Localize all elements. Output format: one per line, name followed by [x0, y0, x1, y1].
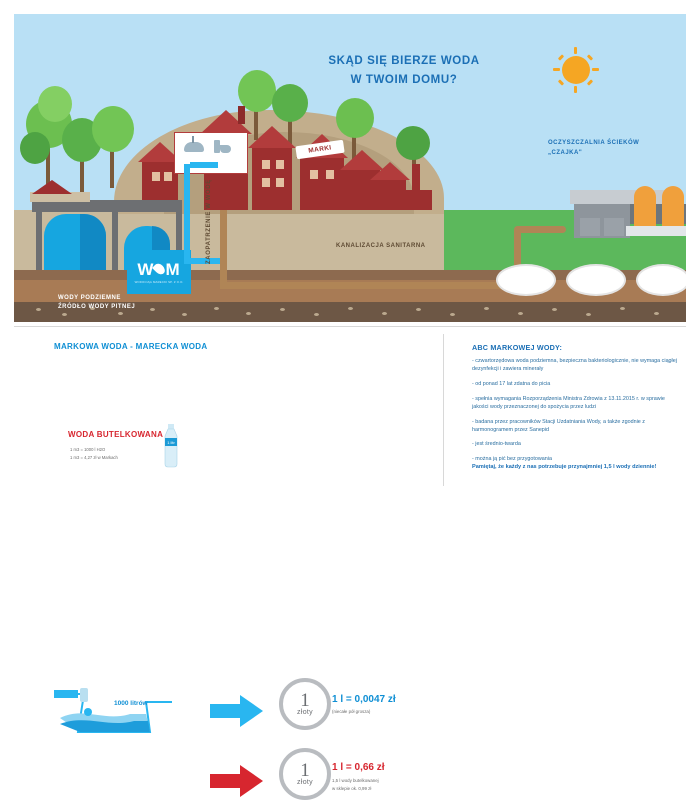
abc-item: - czwartorzędowa woda podziemna, bezpiec…	[472, 357, 678, 373]
bottled-fine-1: 1 m3 = 1000 l H2O	[70, 447, 105, 454]
abc-footer: Pamiętaj, że każdy z nas potrzebuje przy…	[472, 464, 682, 470]
marki-label: MARKI	[308, 144, 332, 154]
abc-title: ABC MARKOWEJ WODY:	[472, 343, 562, 352]
supply-pipe-riser	[190, 162, 218, 168]
settling-basin-2	[566, 264, 626, 296]
plant-label-1: OCZYSZCZALNIA ŚCIEKÓW	[548, 140, 639, 146]
groundwater-label-1: WODY PODZIEMNE	[58, 295, 121, 301]
wim-letter-m: M	[165, 261, 180, 278]
bottled-price: 1 l = 0,66 zł	[332, 762, 385, 773]
coin-bottled-number: 1	[300, 762, 310, 779]
tap-water-title: MARKOWA WODA - MARECKA WODA	[54, 342, 207, 351]
supply-pipe-vertical	[184, 164, 190, 264]
infographic-page: SKĄD SIĘ BIERZE WODA W TWOIM DOMU?	[0, 0, 700, 504]
sanitary-sewer-label: KANALIZACJA SANITARNA	[336, 243, 426, 249]
toilet-icon	[214, 140, 230, 154]
bottled-water-title: WODA BUTELKOWANA	[68, 430, 163, 439]
page-title: SKĄD SIĘ BIERZE WODA W TWOIM DOMU?	[294, 52, 514, 90]
plant-label-2: „CZAJKA"	[548, 150, 582, 156]
sun-icon	[562, 56, 590, 84]
settling-basin-1	[496, 264, 556, 296]
title-line-2: W TWOIM DOMU?	[294, 71, 514, 90]
wim-logo: W M WODOCIĄG MARECKI SP. Z O.O.	[127, 250, 191, 294]
wim-mark: W M	[137, 261, 180, 278]
wim-subtitle: WODOCIĄG MARECKI SP. Z O.O.	[135, 280, 184, 284]
bottled-fine-2: 1 m3 = 4,27 zł w Markach	[70, 455, 118, 462]
coin-tap-number: 1	[300, 692, 310, 709]
illustration-scene: SKĄD SIĘ BIERZE WODA W TWOIM DOMU?	[14, 14, 686, 322]
settling-basin-3	[636, 264, 686, 296]
sewer-pipe-drop	[220, 210, 227, 286]
bottled-price-note-1: 1,5 l wody butelkowanej	[332, 778, 379, 785]
abc-item: - badana przez pracowników Stacji Uzdatn…	[472, 418, 678, 434]
horizontal-divider	[14, 326, 686, 327]
tap-price: 1 l = 0,0047 zł	[332, 694, 396, 705]
abc-list: - czwartorzędowa woda podziemna, bezpiec…	[472, 357, 678, 470]
supply-pipe-horizontal	[184, 258, 224, 264]
bottled-price-note-2: w sklepie ok. 0,99 zł	[332, 786, 371, 793]
coin-tap: 1 złoty	[279, 678, 331, 730]
sewer-pipe-to-plant	[514, 226, 566, 233]
title-line-1: SKĄD SIĘ BIERZE WODA	[294, 52, 514, 71]
abc-item: - jest średnio-twarda	[472, 440, 678, 448]
abc-item: - od ponad 17 lat zdatna do picia	[472, 380, 678, 388]
abc-item: - spełnia wymagania Rozporządzenia Minis…	[472, 395, 678, 411]
groundwater-label-2: ŹRÓDŁO WODY PITNEJ	[58, 304, 135, 310]
sewer-pipe-main	[220, 282, 520, 289]
bathtub-icon	[54, 688, 174, 738]
coin-bottled: 1 złoty	[279, 748, 331, 800]
sink-icon	[184, 142, 204, 152]
tap-volume-label: 1000 litrów	[114, 700, 148, 707]
water-supply-label: ZAOPATRZENIE W WODĘ	[206, 179, 212, 264]
coin-tap-unit: złoty	[297, 709, 313, 716]
bottle-icon: 1 litr	[162, 424, 180, 468]
wim-letter-w: W	[137, 261, 154, 278]
red-arrow-icon	[210, 764, 264, 798]
abc-item: - można ją pić bez przygotowania	[472, 455, 678, 463]
svg-text:1 litr: 1 litr	[167, 440, 175, 445]
blue-arrow-icon	[210, 694, 264, 728]
tap-price-note: (niecałe pół grosza)	[332, 709, 370, 716]
coin-bottled-unit: złoty	[297, 779, 313, 786]
